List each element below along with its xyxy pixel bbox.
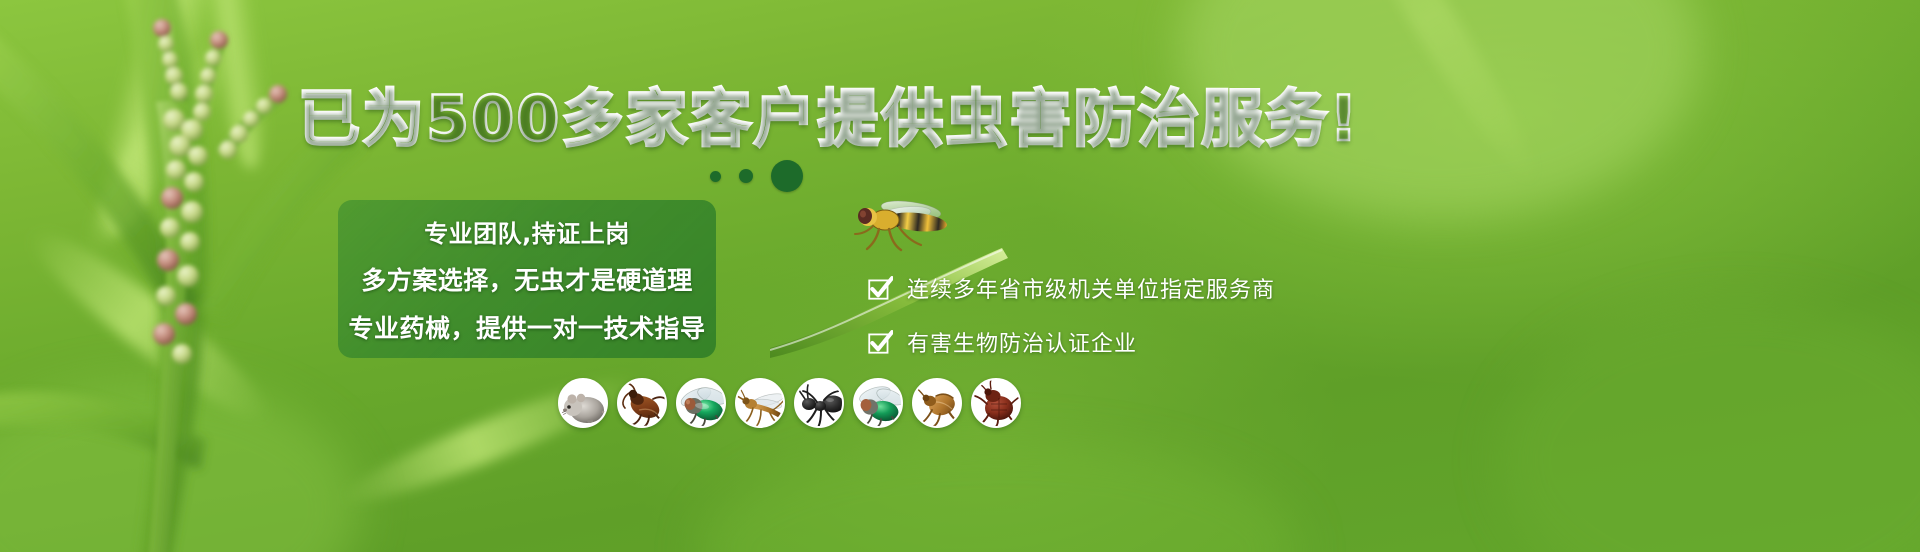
rodent-icon[interactable]: [558, 378, 608, 428]
selling-points-panel: 专业团队,持证上岗 多方案选择，无虫才是硬道理 专业药械，提供一对一技术指导: [338, 200, 716, 358]
headline-text: 已为500多家客户提供虫害防治服务!: [298, 82, 1360, 155]
selling-point-3: 专业药械，提供一对一技术指导: [348, 309, 705, 345]
list-item: 连续多年省市级机关单位指定服务商: [868, 272, 1275, 304]
cockroach-icon[interactable]: [617, 378, 667, 428]
hoverfly-icon: [845, 196, 965, 256]
ant-icon[interactable]: [794, 378, 844, 428]
dot-small: [710, 171, 721, 182]
decorative-dots: [710, 160, 803, 192]
dot-medium: [739, 169, 753, 183]
bedbug-icon[interactable]: [971, 378, 1021, 428]
promo-banner: 已为500多家客户提供虫害防治服务! 专业团队,持证上岗 多方案选择，无虫才是硬…: [0, 0, 1920, 552]
housefly-icon[interactable]: [853, 378, 903, 428]
blowfly-icon[interactable]: [676, 378, 726, 428]
flea-icon[interactable]: [912, 378, 962, 428]
credentials-list: 连续多年省市级机关单位指定服务商 有害生物防治认证企业: [868, 272, 1275, 358]
credential-label: 连续多年省市级机关单位指定服务商: [907, 272, 1275, 304]
pest-types-row: [558, 378, 1021, 428]
selling-point-1: 专业团队,持证上岗: [424, 214, 630, 249]
credential-label: 有害生物防治认证企业: [907, 326, 1137, 358]
list-item: 有害生物防治认证企业: [868, 326, 1275, 358]
checkbox-checked-icon: [868, 330, 893, 355]
selling-point-2: 多方案选择，无虫才是硬道理: [361, 261, 693, 297]
mosquito-icon[interactable]: [735, 378, 785, 428]
checkbox-checked-icon: [868, 276, 893, 301]
page-title: 已为500多家客户提供虫害防治服务!: [0, 68, 1920, 158]
dot-large: [771, 160, 803, 192]
